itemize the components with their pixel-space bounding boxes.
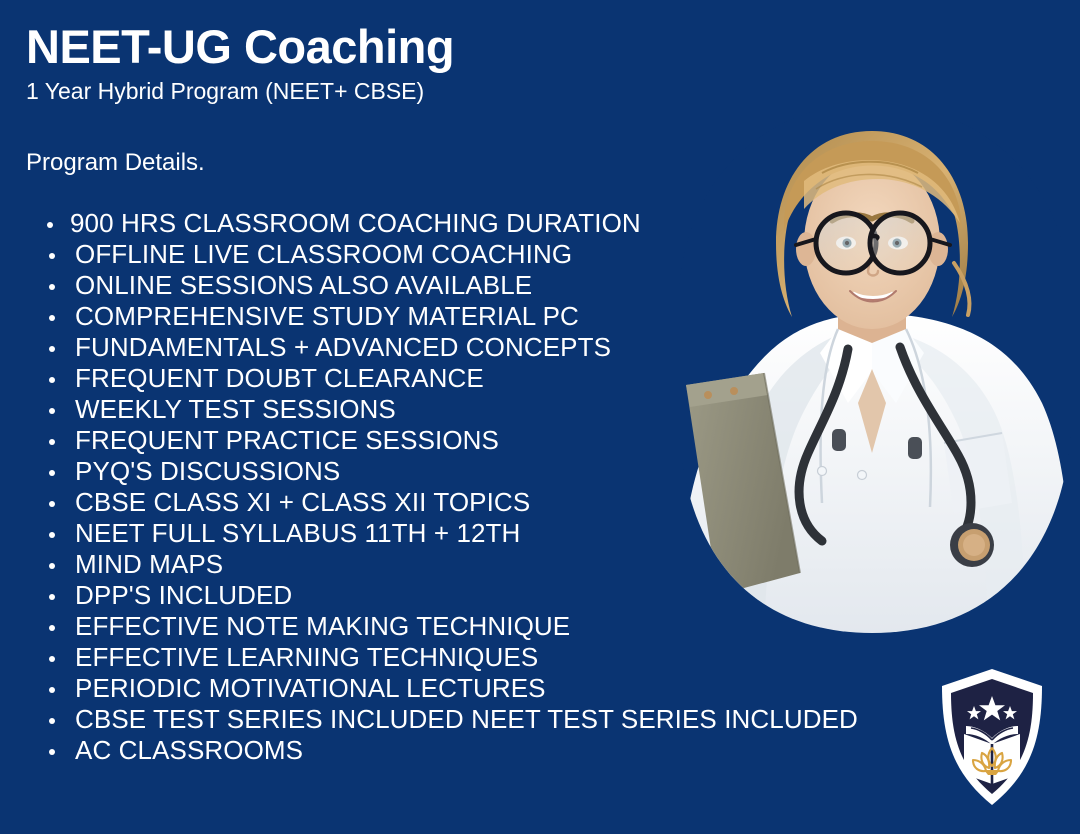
list-item: CBSE TEST SERIES INCLUDED NEET TEST SERI… xyxy=(47,704,947,735)
poster-canvas: NEET-UG Coaching 1 Year Hybrid Program (… xyxy=(0,0,1080,834)
list-item: EFFECTIVE LEARNING TECHNIQUES xyxy=(47,642,947,673)
page-title: NEET-UG Coaching xyxy=(26,22,726,71)
header-block: NEET-UG Coaching 1 Year Hybrid Program (… xyxy=(26,22,726,106)
page-subtitle: 1 Year Hybrid Program (NEET+ CBSE) xyxy=(26,77,726,106)
list-item: PERIODIC MOTIVATIONAL LECTURES xyxy=(47,673,947,704)
shield-emblem-logo-icon xyxy=(938,666,1046,808)
section-label-program-details: Program Details. xyxy=(26,149,205,177)
doctor-portrait-image xyxy=(672,103,1072,633)
list-item: AC CLASSROOMS xyxy=(47,735,947,766)
